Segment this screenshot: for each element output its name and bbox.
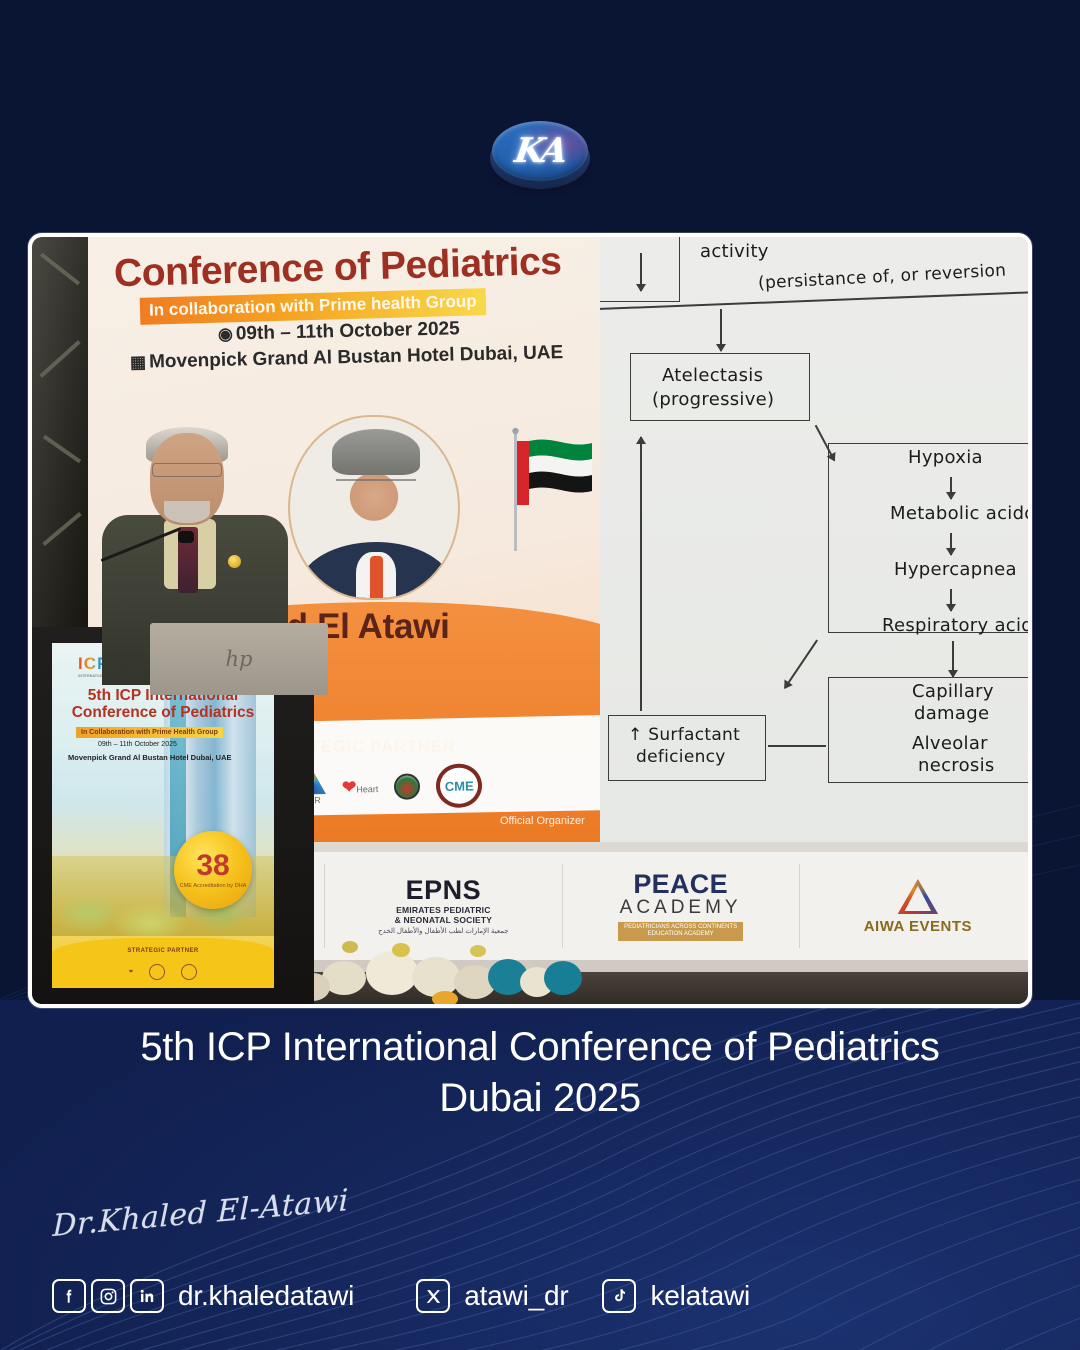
flowchart-node-alveolar-necrosis-l2: necrosis: [918, 755, 995, 776]
flowchart-node-metabolic-acidosis: Metabolic acido: [890, 503, 1028, 524]
laptop: hp: [150, 623, 328, 695]
flowchart-node-activity: activity: [700, 241, 769, 262]
cme-credits-badge: 38 CME Accreditation by DHA: [174, 831, 252, 909]
flowchart-line-2: [768, 745, 826, 747]
facebook-icon[interactable]: [52, 1279, 86, 1313]
speaker-glasses: [152, 463, 222, 477]
speaker-at-podium: hp: [90, 427, 290, 687]
flowchart-box-cascade: [828, 443, 1028, 633]
logo-face: KA: [492, 121, 588, 181]
poster-sponsor-heart-icon: ❤: [129, 969, 133, 975]
headline-line-2: Dubai 2025: [0, 1073, 1080, 1124]
flowchart-node-surfactant-l1: ↑ Surfactant: [628, 725, 740, 745]
slide-flowchart: activity (persistance of, or reversion A…: [600, 237, 1028, 842]
banner-venue: ▦Movenpick Grand Al Bustan Hotel Dubai, …: [130, 342, 564, 374]
poster-sponsor-cme-icon: [181, 964, 197, 980]
flowchart-arrow-5: [950, 533, 952, 555]
room-left-wall: [32, 237, 88, 637]
instagram-icon[interactable]: [91, 1279, 125, 1313]
x-twitter-icon[interactable]: [416, 1279, 450, 1313]
flowchart-node-atelectasis-line2: (progressive): [652, 389, 774, 410]
portrait-hair: [332, 429, 420, 475]
sponsor-aiwa-events-logo: AIWA EVENTS: [800, 864, 1028, 948]
flowchart-node-hypercapnea: Hypercapnea: [894, 559, 1017, 580]
speaker-beard: [164, 501, 210, 523]
banner-date: ◉09th – 11th October 2025: [218, 318, 460, 345]
flower-arrangement: [282, 937, 752, 1004]
event-photo: Conference of Pediatrics In collaboratio…: [32, 237, 1028, 1004]
location-pin-icon: ◉: [218, 324, 233, 343]
flowchart-node-capillary-damage-l1: Capillary: [912, 681, 994, 702]
handle-x[interactable]: atawi_dr: [464, 1280, 568, 1312]
sponsor-epns-logo: EPNS EMIRATES PEDIATRIC & NEONATAL SOCIE…: [325, 864, 562, 948]
flowchart-node-hypoxia: Hypoxia: [908, 447, 983, 468]
flowchart-arrow-4: [950, 477, 952, 499]
handle-meta[interactable]: dr.khaledatawi: [178, 1280, 354, 1312]
flowchart-arrow-8: [784, 640, 818, 689]
poster-collaboration: In Collaboration with Prime Health Group: [76, 727, 223, 738]
flowchart-node-atelectasis-line1: Atelectasis: [662, 365, 763, 386]
uae-society-logo: [394, 773, 420, 799]
flowchart-node-surfactant-l2: deficiency: [636, 747, 726, 767]
cme-logo: CME: [436, 763, 483, 808]
poster-sponsor-row: ❤: [52, 964, 274, 980]
speaker-portrait-photo: [288, 415, 460, 600]
post-headline: 5th ICP International Conference of Pedi…: [0, 1022, 1080, 1124]
speaker-lapel-pin: [228, 555, 241, 568]
poster-venue: Movenpick Grand Al Bustan Hotel Dubai, U…: [68, 753, 232, 762]
flowchart-node-alveolar-necrosis-l1: Alveolar: [912, 733, 988, 754]
portrait-glasses: [336, 479, 416, 494]
social-group-tiktok: kelatawi: [602, 1279, 750, 1313]
linkedin-icon[interactable]: [130, 1279, 164, 1313]
flowchart-node-persistance: (persistance of, or reversion: [758, 261, 1007, 294]
flowchart-arrow-2: [720, 309, 722, 351]
flowchart-arrow-6: [950, 589, 952, 611]
social-group-meta: dr.khaledatawi: [52, 1279, 354, 1313]
portrait-tie: [370, 556, 383, 600]
banner-official-organizer-label: Official Organizer: [500, 815, 585, 827]
flowchart-node-respiratory-acidosis: Respiratory acid: [882, 615, 1028, 636]
sponsor-peace-academy-logo: PEACE ACADEMY PEDIATRICIANS ACROSS CONTI…: [563, 864, 800, 948]
microphone-head: [178, 531, 194, 543]
event-photo-card: Conference of Pediatrics In collaboratio…: [28, 233, 1032, 1008]
banner-title: Conference of Pediatrics: [113, 238, 600, 297]
poster-date: 09th – 11th October 2025: [98, 741, 177, 748]
tiktok-icon[interactable]: [602, 1279, 636, 1313]
uae-flag-icon: [506, 427, 596, 557]
handle-tiktok[interactable]: kelatawi: [650, 1280, 750, 1312]
heart-medical-center-logo: ❤Heart: [342, 778, 379, 796]
social-links-row: dr.khaledatawi atawi_dr kelatawi: [52, 1272, 750, 1320]
banner-strategic-partner-label: TEGIC PARTNER: [310, 737, 455, 757]
poster-yellow-band: [52, 938, 274, 988]
logo-initials: KA: [512, 134, 567, 168]
flowchart-arrow-7: [952, 641, 954, 677]
aiwa-triangle-icon: [896, 878, 940, 916]
ka-monogram-logo: KA: [488, 119, 592, 193]
social-group-x: atawi_dr: [416, 1279, 568, 1313]
hp-logo: hp: [226, 647, 253, 671]
headline-line-1: 5th ICP International Conference of Pedi…: [0, 1022, 1080, 1073]
flowchart-arrow-1: [640, 253, 642, 291]
flowchart-node-capillary-damage-l2: damage: [914, 703, 989, 724]
calendar-icon: ▦: [130, 353, 146, 372]
poster-sponsor-circle-icon: [149, 964, 165, 980]
brand-logo: KA: [0, 108, 1080, 204]
flowchart-arrow-feedback: [640, 437, 642, 711]
poster-strategic-partner-label: STRATEGIC PARTNER: [52, 948, 274, 954]
flowchart-box-atelectasis: [630, 353, 810, 421]
